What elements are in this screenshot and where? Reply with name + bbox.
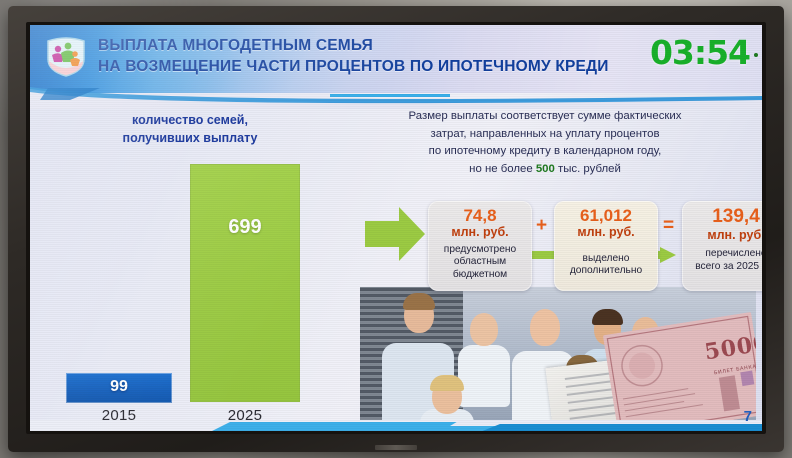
photo-person-father-hair bbox=[403, 293, 435, 310]
page-title: ВЫПЛАТА МНОГОДЕТНЫМ СЕМЬЯ НА ВОЗМЕЩЕНИЕ … bbox=[98, 35, 609, 78]
title-line-1: ВЫПЛАТА МНОГОДЕТНЫМ СЕМЬЯ bbox=[98, 35, 609, 56]
bar-2015: 99 bbox=[66, 373, 172, 403]
budget-allocated-note: предусмотрено областным бюджетном bbox=[428, 244, 532, 281]
description-line-3: по ипотечному кредиту в календарном году… bbox=[335, 143, 755, 161]
countdown-timer: 03:54 bbox=[650, 33, 750, 72]
description-line-4-post: тыс. рублей bbox=[555, 163, 621, 175]
total-note-line-2: всего за 2025 год bbox=[682, 261, 762, 273]
television-bezel: ВЫПЛАТА МНОГОДЕТНЫМ СЕМЬЯ НА ВОЗМЕЩЕНИЕ … bbox=[8, 6, 784, 452]
plus-operator: + bbox=[536, 215, 547, 237]
description-line-4: но не более 500 тыс. рублей bbox=[335, 161, 755, 179]
tv-brand-logo bbox=[375, 445, 417, 450]
timer-indicator-dot bbox=[754, 53, 758, 57]
total-transferred-amount: 139,4 bbox=[682, 207, 762, 228]
total-transferred-box: 139,4 млн. руб. перечислено всего за 202… bbox=[682, 201, 762, 291]
bar-2025-value: 699 bbox=[190, 216, 300, 239]
family-support-logo-icon bbox=[42, 35, 90, 79]
description-text: Размер выплаты соответствует сумме факти… bbox=[335, 108, 755, 179]
title-line-2: НА ВОЗМЕЩЕНИЕ ЧАСТИ ПРОЦЕНТОВ ПО ИПОТЕЧН… bbox=[98, 56, 609, 77]
additional-funds-note: выделено дополнительно bbox=[554, 253, 658, 278]
total-transferred-note: перечислено всего за 2025 год bbox=[682, 248, 762, 273]
additional-note-line-2: дополнительно bbox=[554, 265, 658, 277]
additional-funds-unit: млн. руб. bbox=[554, 225, 658, 241]
additional-funds-box: 61,012 млн. руб. выделено дополнительно bbox=[554, 201, 658, 291]
presentation-slide: ВЫПЛАТА МНОГОДЕТНЫМ СЕМЬЯ НА ВОЗМЕЩЕНИЕ … bbox=[30, 25, 762, 431]
total-transferred-unit: млн. руб. bbox=[682, 228, 762, 244]
additional-note-line-1: выделено bbox=[554, 253, 658, 265]
description-line-4-pre: но не более bbox=[469, 163, 536, 175]
bar-2015-value: 99 bbox=[66, 378, 172, 396]
additional-funds-amount: 61,012 bbox=[554, 207, 658, 225]
budget-allocated-box: 74,8 млн. руб. предусмотрено областным б… bbox=[428, 201, 532, 291]
description-line-1: Размер выплаты соответствует сумме факти… bbox=[335, 108, 755, 126]
green-right-arrow-icon bbox=[365, 205, 425, 263]
budget-note-line-1: предусмотрено bbox=[428, 244, 532, 256]
chart-caption: количество семей, получивших выплату bbox=[70, 111, 310, 147]
budget-note-line-2: областным bbox=[428, 256, 532, 268]
budget-note-line-3: бюджетном bbox=[428, 269, 532, 281]
photo-person-boy3-hair bbox=[430, 375, 464, 391]
photo-person-mother-head bbox=[530, 309, 560, 346]
bar-2025: 699 bbox=[190, 164, 300, 402]
photo-person-girl1-head bbox=[470, 313, 498, 346]
photo-person-boy1-hair bbox=[592, 309, 623, 325]
description-limit-value: 500 bbox=[536, 163, 555, 175]
total-note-line-1: перечислено bbox=[682, 248, 762, 260]
budget-allocated-unit: млн. руб. bbox=[428, 225, 532, 241]
header-divider-swoosh bbox=[30, 87, 762, 109]
chart-caption-line-1: количество семей, bbox=[70, 111, 310, 129]
slide-bottom-accent bbox=[30, 419, 762, 431]
chart-caption-line-2: получивших выплату bbox=[70, 129, 310, 147]
equals-operator: = bbox=[663, 215, 674, 237]
budget-allocated-amount: 74,8 bbox=[428, 207, 532, 225]
photo-person-girl1-body bbox=[458, 345, 510, 407]
family-photo: 5000 БИЛЕТ БАНКА bbox=[360, 287, 756, 429]
description-line-2: затрат, направленных на уплату процентов bbox=[335, 126, 755, 144]
page-number: 7 bbox=[744, 408, 752, 425]
